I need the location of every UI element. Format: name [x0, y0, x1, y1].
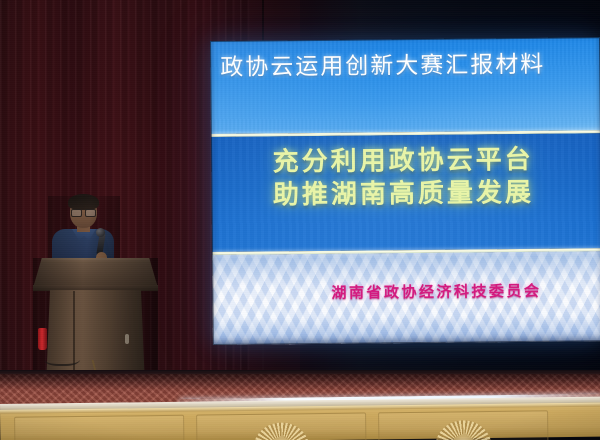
- floor-cable-loop: [44, 350, 80, 366]
- fan-ornament-icon-2: [435, 420, 491, 440]
- stage-panel-2: [196, 413, 366, 440]
- fan-ornament-core-2: [453, 435, 473, 440]
- slide-title-band: 充分利用政协云平台 助推湖南高质量发展: [211, 133, 600, 252]
- stage-panel-3: [378, 410, 548, 440]
- projection-screen: 政协云运用创新大赛汇报材料 充分利用政协云平台 助推湖南高质量发展 湖南省政协经…: [210, 37, 600, 345]
- stage-panel-1: [14, 415, 184, 440]
- fan-ornament-icon: [253, 422, 309, 440]
- slide-title-line-2: 助推湖南高质量发展: [211, 177, 595, 214]
- slide-footer-band: 湖南省政协经济科技委员会: [212, 251, 600, 345]
- fire-extinguisher: [38, 328, 47, 350]
- slide-title-line-1: 充分利用政协云平台: [211, 143, 595, 180]
- slide-title-block: 充分利用政协云平台 助推湖南高质量发展: [211, 143, 600, 213]
- presentation-photo-scene: 政协云运用创新大赛汇报材料 充分利用政协云平台 助推湖南高质量发展 湖南省政协经…: [0, 0, 600, 440]
- stage-front-panel: [0, 403, 600, 440]
- slide-header-text: 政协云运用创新大赛汇报材料: [220, 54, 550, 80]
- carpet-shadow: [0, 374, 600, 390]
- slide-footer-text: 湖南省政协经济科技委员会: [212, 279, 600, 304]
- slide-header-band: 政协云运用创新大赛汇报材料: [210, 37, 600, 134]
